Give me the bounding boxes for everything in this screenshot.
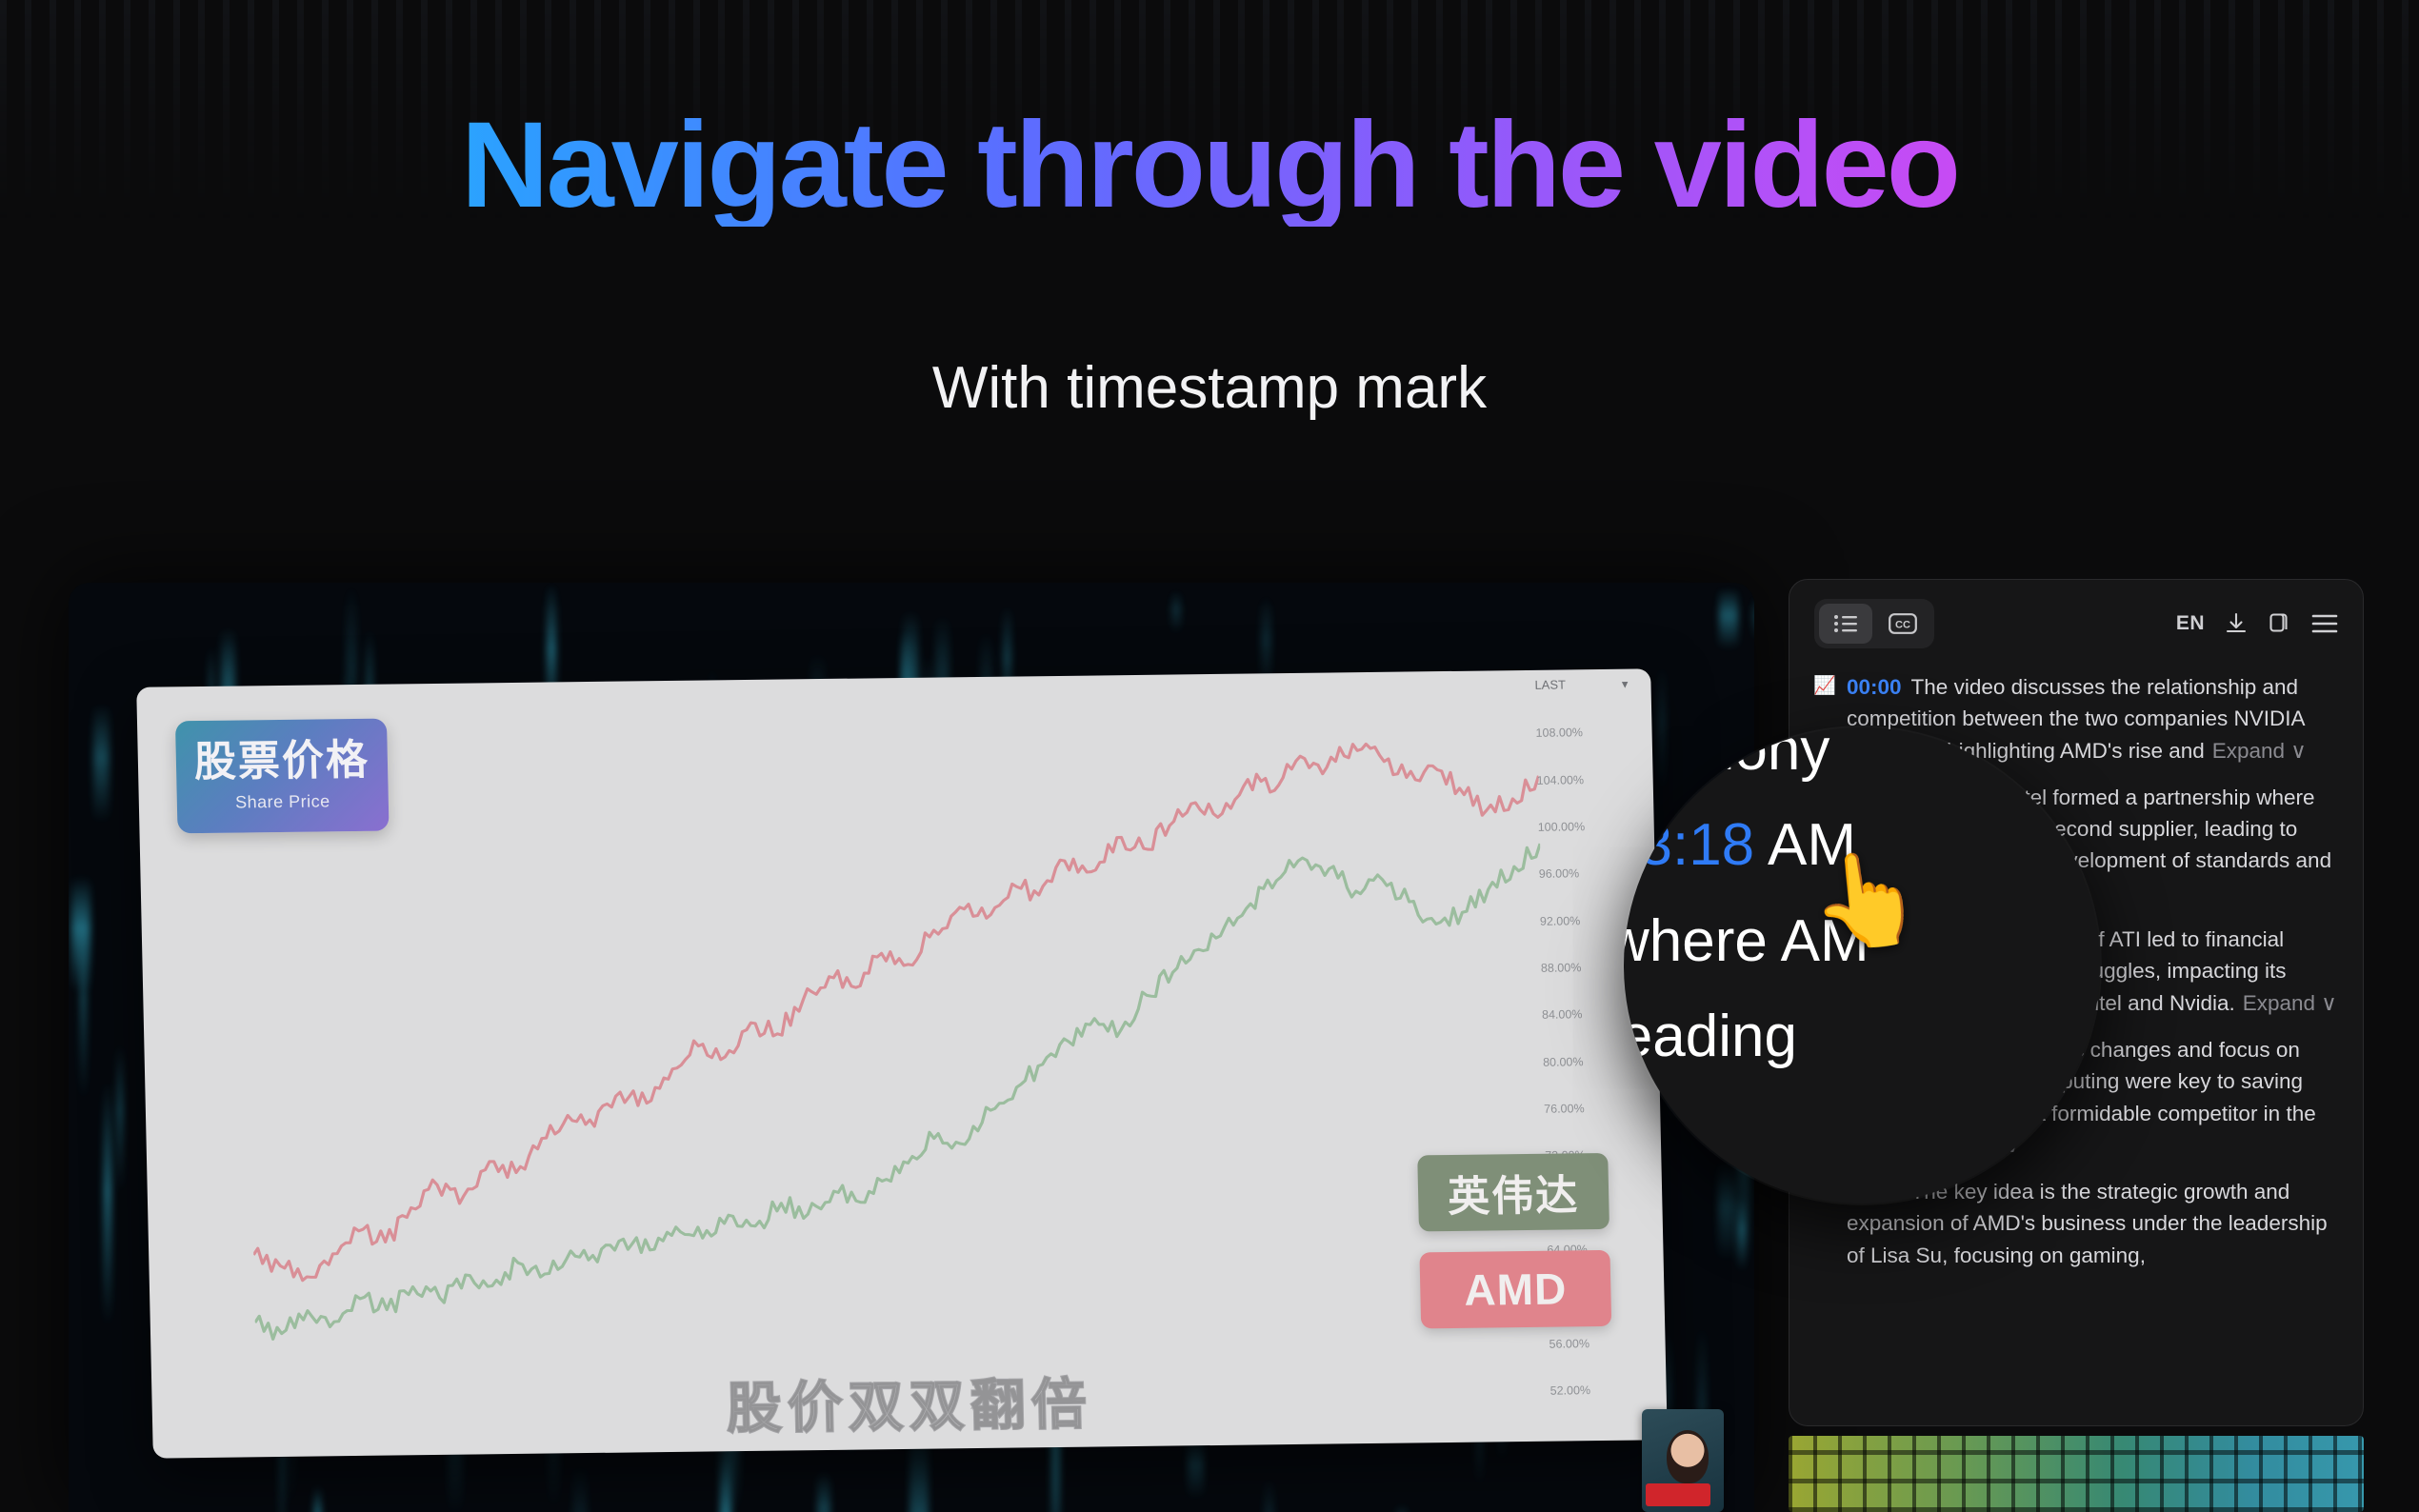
magnifier-bubble: 🚀 relationy 03:18 AM where AM leading — [1624, 727, 2100, 1204]
view-mode-segmented-control[interactable]: CC — [1814, 599, 1934, 648]
chart-legend: 英伟达 AMD — [1417, 1153, 1611, 1328]
price-chart-svg — [242, 697, 1551, 1390]
transcript-toolbar: CC EN — [1789, 580, 2363, 667]
y-axis-tick: 76.00% — [1544, 1101, 1643, 1115]
expand-button[interactable]: Expand ∨ — [2212, 739, 2307, 763]
outline-view-button[interactable] — [1819, 604, 1872, 644]
page-title: Navigate through the video — [0, 105, 2419, 227]
page-subtitle: With timestamp mark — [0, 354, 2419, 422]
video-player-frame[interactable]: 股票价格 Share Price LAST▾108.00%104.00%100.… — [69, 583, 1754, 1512]
language-selector[interactable]: EN — [2176, 612, 2205, 635]
chart-series-nvidia — [245, 844, 1550, 1340]
y-axis-selector[interactable]: LAST▾ — [1534, 677, 1633, 693]
hamburger-icon[interactable] — [2311, 613, 2338, 634]
y-axis-tick: 100.00% — [1538, 820, 1637, 834]
magnifier-timestamp[interactable]: 03:18 — [1624, 812, 1754, 878]
presenter-avatar — [1667, 1430, 1709, 1483]
copy-icon[interactable] — [2268, 611, 2292, 636]
y-axis-tick: 108.00% — [1535, 726, 1634, 740]
transcript-timestamp[interactable]: 00:00 — [1847, 675, 1902, 699]
screenshot-root: Navigate through the video With timestam… — [0, 0, 2419, 1512]
presenter-name-bar — [1646, 1483, 1710, 1506]
legend-chip-amd: AMD — [1419, 1250, 1611, 1328]
y-axis-tick: 104.00% — [1537, 772, 1636, 786]
stock-chart-card: 股票价格 Share Price LAST▾108.00%104.00%100.… — [136, 668, 1668, 1458]
decorative-pattern-strip — [1789, 1436, 2364, 1512]
legend-chip-nvidia: 英伟达 — [1417, 1153, 1609, 1231]
price-chart-plot — [242, 697, 1551, 1390]
y-axis-tick: 56.00% — [1549, 1336, 1648, 1350]
magnifier-line-bottom: leading — [1624, 989, 2100, 1084]
chart-series-amd — [243, 742, 1549, 1281]
captions-view-button[interactable]: CC — [1876, 604, 1929, 644]
list-icon — [1833, 614, 1858, 633]
svg-text:CC: CC — [1895, 619, 1910, 630]
chart-watermark: 股价双双翻倍 — [151, 1352, 1668, 1450]
magnifier-line-top: relationy — [1624, 727, 2100, 798]
download-icon[interactable] — [2224, 611, 2249, 636]
transcript-actions: EN — [2176, 611, 2338, 636]
pointer-cursor: 👆 — [1804, 842, 1929, 960]
presenter-thumbnail[interactable] — [1642, 1409, 1724, 1512]
expand-button[interactable]: Expand ∨ — [2243, 991, 2337, 1015]
cc-icon: CC — [1889, 613, 1917, 634]
